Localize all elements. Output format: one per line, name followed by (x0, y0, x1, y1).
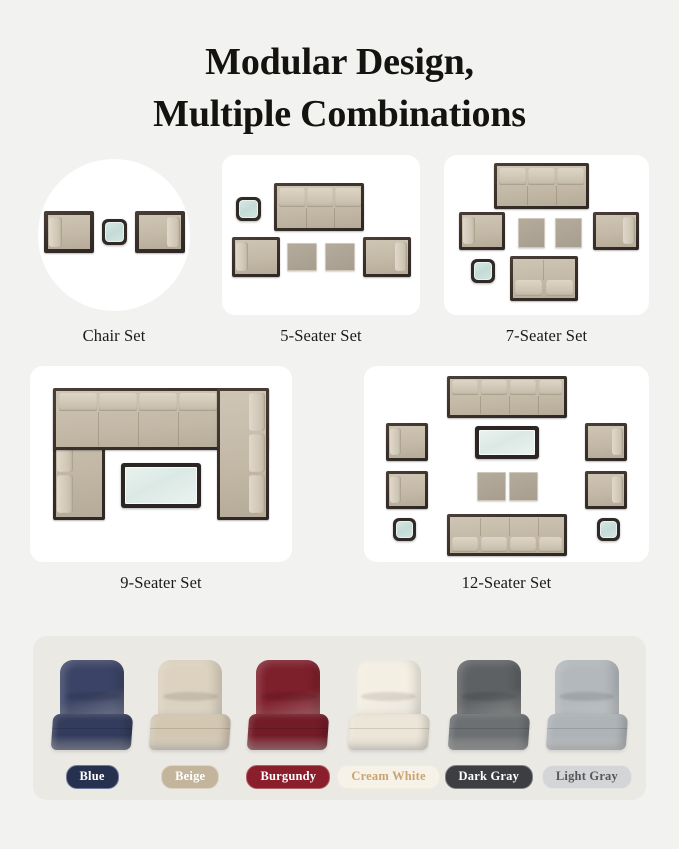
back-cushion (60, 660, 124, 722)
title-line-1: Modular Design, (0, 36, 679, 88)
color-swatch-blue[interactable]: Blue (43, 649, 141, 789)
armchair-left-upper (386, 423, 428, 461)
color-swatch-row: Blue Beige Burgundy Cream White (33, 636, 646, 800)
ottoman-2 (555, 218, 582, 248)
glass-side-table (236, 197, 261, 221)
glass-coffee-table (475, 426, 539, 459)
set-cell-5-seater-set[interactable]: 5-Seater Set (222, 155, 420, 346)
set-card-chair-set[interactable] (30, 155, 198, 315)
back-cushion (357, 660, 421, 722)
set-cell-9-seater-set[interactable]: 9-Seater Set (30, 366, 292, 593)
color-label-burgundy: Burgundy (246, 765, 330, 789)
cushion-preview (50, 660, 134, 756)
cushion-preview (347, 660, 431, 756)
color-swatch-dark-gray[interactable]: Dark Gray (440, 649, 538, 789)
color-label-cream-white: Cream White (337, 765, 439, 789)
color-swatch-beige[interactable]: Beige (141, 649, 239, 789)
armchair-right-lower (585, 471, 627, 509)
sofa-three-seat (494, 163, 589, 209)
ottoman-1 (518, 218, 545, 248)
back-cushion (256, 660, 320, 722)
color-swatch-light-gray[interactable]: Light Gray (538, 649, 636, 789)
glass-coffee-table (121, 463, 201, 508)
set-card-12-seater-set[interactable] (364, 366, 649, 562)
ottoman-1 (477, 472, 506, 501)
sofa-two-seat (510, 256, 578, 301)
armchair-right (363, 237, 411, 277)
color-swatch-cream-white[interactable]: Cream White (337, 649, 439, 789)
5-seater-diagram (222, 155, 420, 315)
armchair-right (135, 211, 185, 253)
set-cell-chair-set[interactable]: Chair Set (30, 155, 198, 346)
9-seater-diagram (30, 366, 292, 562)
set-cell-12-seater-set[interactable]: 12-Seater Set (364, 366, 649, 593)
cushion-preview (447, 660, 531, 756)
armchair-left-lower (386, 471, 428, 509)
color-label-dark-gray: Dark Gray (445, 765, 533, 789)
set-label-12-seater-set: 12-Seater Set (462, 573, 552, 593)
seat-cushion (149, 714, 232, 750)
cushion-preview (246, 660, 330, 756)
chair-set-diagram (30, 155, 198, 315)
color-options-panel: Blue Beige Burgundy Cream White (33, 636, 646, 800)
color-label-light-gray: Light Gray (542, 765, 632, 789)
sectional-right-wing (217, 388, 269, 520)
cushion-preview (545, 660, 629, 756)
seat-cushion (448, 714, 531, 750)
back-cushion (457, 660, 521, 722)
armchair-right (593, 212, 639, 250)
set-row-bottom: 9-Seater Set (30, 366, 649, 593)
page-title: Modular Design, Multiple Combinations (0, 0, 679, 141)
back-cushion (158, 660, 222, 722)
ottoman-1 (287, 243, 317, 271)
armchair-left (44, 211, 94, 253)
sofa-four-seat-top (447, 376, 567, 418)
seat-cushion (546, 714, 629, 750)
back-cushion (555, 660, 619, 722)
set-row-top: Chair Set (30, 155, 649, 346)
glass-side-table (102, 219, 127, 245)
12-seater-diagram (364, 366, 649, 562)
seat-cushion (247, 714, 330, 750)
cushion-preview (148, 660, 232, 756)
set-label-5-seater-set: 5-Seater Set (280, 326, 361, 346)
ottoman-2 (325, 243, 355, 271)
title-line-2: Multiple Combinations (0, 88, 679, 140)
color-label-blue: Blue (66, 765, 119, 789)
color-swatch-burgundy[interactable]: Burgundy (239, 649, 337, 789)
glass-side-table (471, 259, 495, 283)
set-cell-7-seater-set[interactable]: 7-Seater Set (444, 155, 649, 346)
set-card-7-seater-set[interactable] (444, 155, 649, 315)
set-card-5-seater-set[interactable] (222, 155, 420, 315)
set-label-7-seater-set: 7-Seater Set (506, 326, 587, 346)
sofa-three-seat (274, 183, 364, 231)
armchair-left (232, 237, 280, 277)
glass-side-table-right (597, 518, 620, 541)
set-label-9-seater-set: 9-Seater Set (120, 573, 201, 593)
glass-side-table-left (393, 518, 416, 541)
set-configurations: Chair Set (0, 141, 679, 593)
ottoman-2 (509, 472, 538, 501)
armchair-left (459, 212, 505, 250)
armchair-right-upper (585, 423, 627, 461)
sofa-four-seat-bottom (447, 514, 567, 556)
7-seater-diagram (444, 155, 649, 315)
seat-cushion (51, 714, 134, 750)
color-label-beige: Beige (161, 765, 219, 789)
set-card-9-seater-set[interactable] (30, 366, 292, 562)
seat-cushion (347, 714, 430, 750)
set-label-chair-set: Chair Set (83, 326, 146, 346)
